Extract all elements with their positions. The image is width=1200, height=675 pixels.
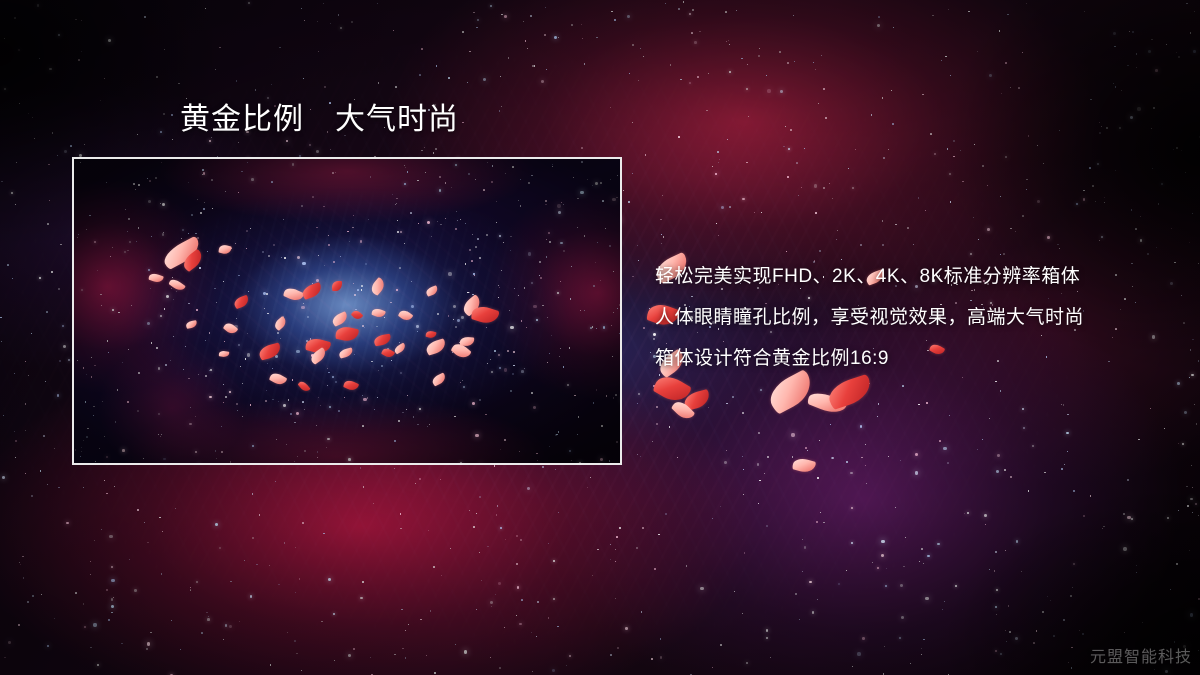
page-title: 黄金比例 大气时尚 bbox=[180, 103, 459, 137]
body-copy: 轻松完美实现FHD、2K、4K、8K标准分辨率箱体 人体眼睛瞳孔比例，享受视觉效… bbox=[655, 256, 1155, 379]
body-line-2: 人体眼睛瞳孔比例，享受视觉效果，高端大气时尚 bbox=[655, 297, 1155, 338]
watermark: 元盟智能科技 bbox=[1090, 643, 1192, 667]
slide-canvas: 黄金比例 大气时尚 轻松完美实现FHD、2K、4K、8K标准分辨率箱体 人体眼睛… bbox=[0, 0, 1200, 675]
body-line-3: 箱体设计符合黄金比例16:9 bbox=[655, 338, 1155, 379]
photo-vignette bbox=[74, 159, 620, 463]
body-line-1: 轻松完美实现FHD、2K、4K、8K标准分辨率箱体 bbox=[655, 256, 1155, 297]
galaxy-petals-photo-frame[interactable] bbox=[72, 157, 622, 465]
